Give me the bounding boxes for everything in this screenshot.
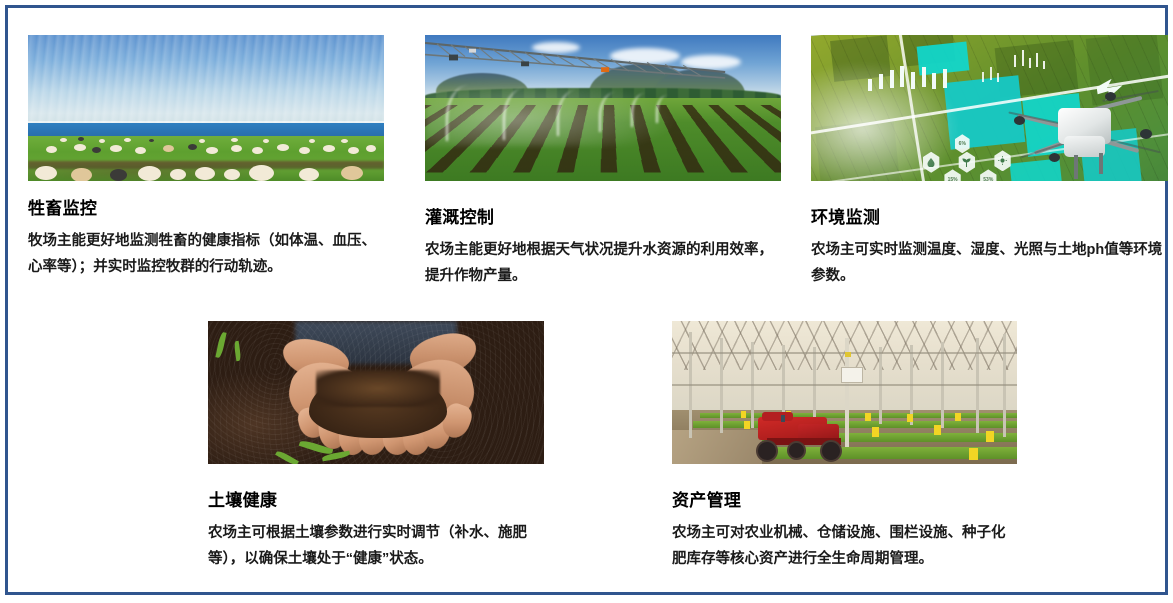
sheep-grazing-pasture-photo: [28, 35, 384, 181]
card-title: 环境监测: [811, 203, 1168, 228]
water-mist: [425, 79, 681, 146]
sticky-trap: [907, 414, 913, 422]
overlay-bar: [1043, 61, 1045, 69]
cloud-streaks: [28, 35, 384, 126]
sticky-trap: [934, 425, 941, 435]
card-livestock-monitoring[interactable]: 牲畜监控 牧场主能更好地监测牲畜的健康指标（如体温、血压、心率等）；并实时监控牧…: [28, 35, 384, 280]
card-irrigation-control[interactable]: 灌溉控制 农场主能更好地根据天气状况提升水资源的利用效率，提升作物产量。: [425, 35, 781, 289]
card-description: 牧场主能更好地监测牲畜的健康指标（如体温、血压、心率等）；并实时监控牧群的行动轨…: [28, 228, 384, 280]
card-title: 灌溉控制: [425, 203, 781, 228]
drone-leg: [1074, 155, 1078, 179]
card-environment-monitoring[interactable]: 6% 15% 53%: [811, 35, 1168, 289]
tractor-cab-frame: [762, 412, 793, 420]
sticky-trap: [969, 448, 978, 460]
overlay-bar: [1029, 58, 1031, 68]
soil-mound: [316, 370, 440, 407]
overlay-bar: [997, 73, 999, 82]
overlay-bar: [1036, 53, 1038, 67]
drone: [1011, 88, 1168, 181]
overlay-bar: [1022, 50, 1024, 66]
sticky-trap: [741, 411, 746, 418]
card-title: 牲畜监控: [28, 194, 384, 219]
card-asset-management[interactable]: 资产管理 农场主可对农业机械、仓储设施、围栏设施、种子化肥库存等核心资产进行全生…: [672, 321, 1017, 572]
content-frame: 牲畜监控 牧场主能更好地监测牲畜的健康指标（如体温、血压、心率等）；并实时监控牧…: [5, 5, 1168, 595]
warning-label: [845, 352, 851, 357]
pivot-irrigation-boom: [425, 39, 731, 80]
overlay-bar: [990, 67, 992, 80]
hex-badge-label: 53%: [983, 177, 993, 181]
card-description: 农场主可实时监测温度、湿度、光照与土地ph值等环境参数。: [811, 237, 1168, 289]
drone-motor: [1140, 129, 1152, 139]
hands-holding-soil-photo: [208, 321, 544, 464]
red-tractor: [748, 408, 852, 459]
card-soil-health[interactable]: 土壤健康 农场主可根据土壤参数进行实时调节（补水、施肥等），以确保土壤处于“健康…: [208, 321, 544, 572]
sprout-icon: [962, 158, 971, 167]
tractor-wheel: [787, 441, 806, 460]
mist-overlay: [811, 61, 961, 181]
overlay-bar: [982, 72, 984, 82]
overlay-bar: [1014, 55, 1016, 67]
tractor-wheel: [756, 440, 778, 462]
tractor-exhaust: [781, 415, 785, 422]
drone-smart-farm-overlay-photo: 6% 15% 53%: [811, 35, 1168, 181]
greenhouse-tractor-photo: [672, 321, 1017, 464]
tractor-wheel: [820, 440, 842, 462]
screenshot-root: 牲畜监控 牧场主能更好地监测牲畜的健康指标（如体温、血压、心率等）；并实时监控牧…: [0, 0, 1173, 603]
card-description: 农场主可对农业机械、仓储设施、围栏设施、种子化肥库存等核心资产进行全生命周期管理…: [672, 520, 1017, 572]
sun-icon: [998, 156, 1007, 165]
sticky-trap: [865, 413, 871, 421]
control-panel: [841, 367, 863, 383]
drone-motor: [1105, 92, 1116, 101]
card-title: 资产管理: [672, 486, 1017, 511]
drone-motor: [1014, 116, 1025, 125]
growing-bed: [693, 421, 1017, 428]
center-pivot-irrigation-photo: [425, 35, 781, 181]
sticky-trap: [955, 413, 961, 421]
card-description: 农场主能更好地根据天气状况提升水资源的利用效率，提升作物产量。: [425, 237, 781, 289]
drone-leg: [1099, 153, 1103, 174]
card-title: 土壤健康: [208, 486, 544, 511]
drone-motor: [1049, 153, 1060, 162]
card-description: 农场主可根据土壤参数进行实时调节（补水、施肥等），以确保土壤处于“健康”状态。: [208, 520, 544, 572]
sticky-trap: [986, 431, 994, 442]
drone-propeller: [1021, 142, 1066, 158]
sticky-trap: [872, 427, 879, 437]
horizontal-beam: [672, 384, 1017, 386]
